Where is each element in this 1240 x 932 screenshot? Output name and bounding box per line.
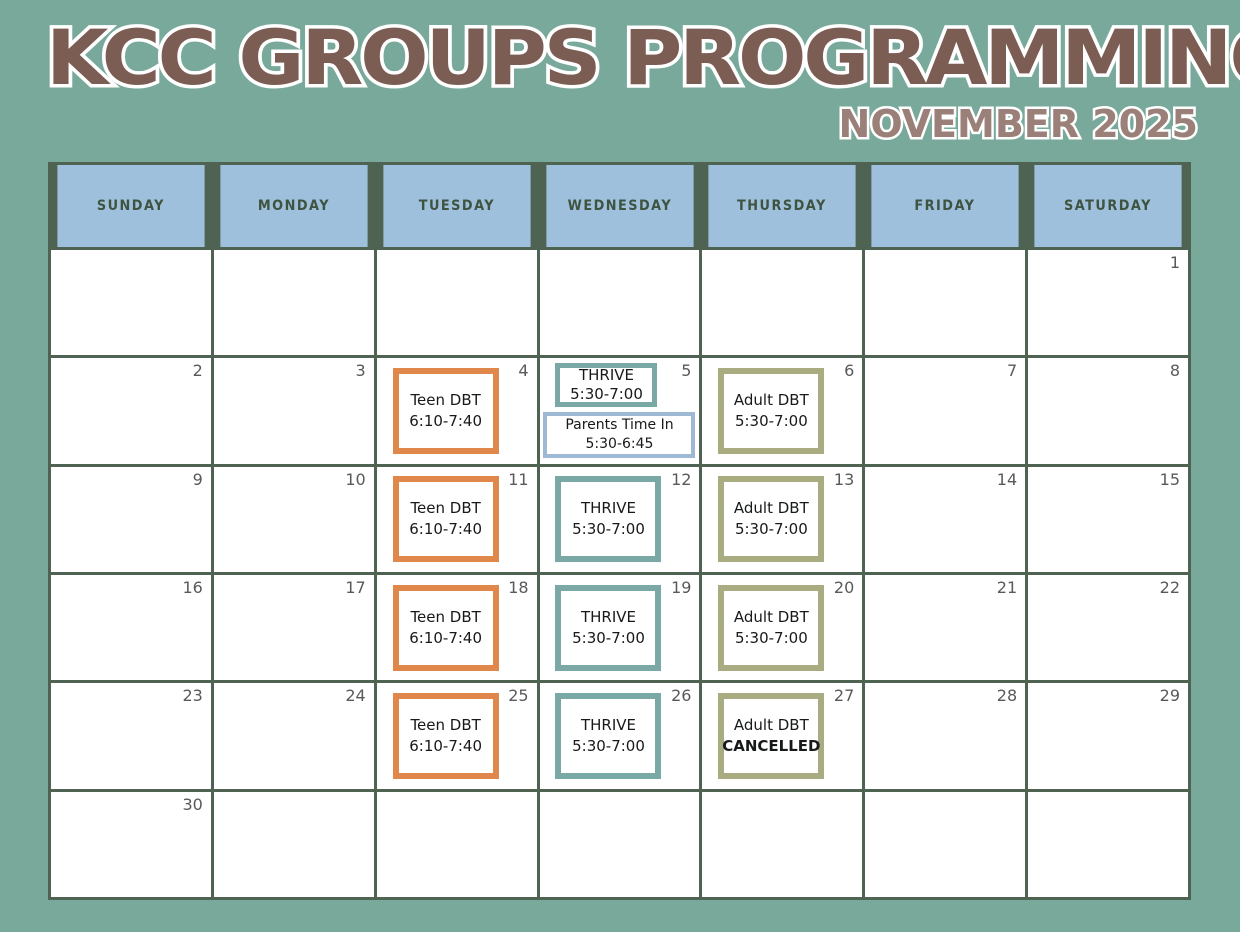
event-title: Adult DBT bbox=[734, 390, 809, 411]
day-cell-empty[interactable] bbox=[865, 250, 1025, 355]
event-title: THRIVE bbox=[579, 366, 634, 385]
events-container: THRIVE5:30-7:00Parents Time In5:30-6:45 bbox=[540, 358, 700, 463]
event-stack: Adult DBT5:30-7:00 bbox=[704, 368, 860, 454]
event-box-adult-dbt[interactable]: Adult DBT5:30-7:00 bbox=[718, 368, 824, 454]
event-time: 5:30-7:00 bbox=[572, 519, 645, 540]
day-cell-empty[interactable] bbox=[214, 792, 374, 897]
event-box-thrive[interactable]: THRIVE5:30-7:00 bbox=[555, 476, 661, 562]
event-box-adult-dbt[interactable]: Adult DBT5:30-7:00 bbox=[718, 476, 824, 562]
day-number: 16 bbox=[182, 579, 202, 597]
day-cell-3[interactable]: 3 bbox=[214, 358, 374, 463]
event-time: 6:10-7:40 bbox=[409, 628, 482, 649]
event-box-teen-dbt[interactable]: Teen DBT6:10-7:40 bbox=[393, 368, 499, 454]
day-cell-12[interactable]: 12THRIVE5:30-7:00 bbox=[540, 467, 700, 572]
day-number: 1 bbox=[1170, 254, 1180, 272]
day-cell-28[interactable]: 28 bbox=[865, 683, 1025, 788]
event-stack: Teen DBT6:10-7:40 bbox=[379, 476, 535, 562]
event-box-thrive[interactable]: THRIVE5:30-7:00 bbox=[555, 693, 661, 779]
event-time: 5:30-7:00 bbox=[572, 736, 645, 757]
event-title: Adult DBT bbox=[734, 498, 809, 519]
day-cell-8[interactable]: 8 bbox=[1028, 358, 1188, 463]
day-cell-20[interactable]: 20Adult DBT5:30-7:00 bbox=[702, 575, 862, 680]
weekday-header-sunday: SUNDAY bbox=[57, 165, 204, 247]
event-stack: Adult DBTCANCELLED bbox=[704, 693, 860, 779]
events-container: Adult DBTCANCELLED bbox=[702, 683, 862, 788]
day-cell-29[interactable]: 29 bbox=[1028, 683, 1188, 788]
day-cell-15[interactable]: 15 bbox=[1028, 467, 1188, 572]
day-cell-empty[interactable] bbox=[377, 250, 537, 355]
day-number: 23 bbox=[182, 687, 202, 705]
calendar-poster: KCC GROUPS PROGRAMMING NOVEMBER 2025 SUN… bbox=[0, 0, 1240, 932]
day-cell-13[interactable]: 13Adult DBT5:30-7:00 bbox=[702, 467, 862, 572]
day-number: 9 bbox=[193, 471, 203, 489]
event-box-teen-dbt[interactable]: Teen DBT6:10-7:40 bbox=[393, 585, 499, 671]
day-cell-11[interactable]: 11Teen DBT6:10-7:40 bbox=[377, 467, 537, 572]
day-cell-empty[interactable] bbox=[702, 250, 862, 355]
weekday-header-saturday: SATURDAY bbox=[1035, 165, 1182, 247]
day-cell-empty[interactable] bbox=[51, 250, 211, 355]
day-cell-empty[interactable] bbox=[214, 250, 374, 355]
day-cell-10[interactable]: 10 bbox=[214, 467, 374, 572]
day-number: 29 bbox=[1160, 687, 1180, 705]
day-cell-17[interactable]: 17 bbox=[214, 575, 374, 680]
event-time: 5:30-7:00 bbox=[572, 628, 645, 649]
day-cell-19[interactable]: 19THRIVE5:30-7:00 bbox=[540, 575, 700, 680]
events-container: Teen DBT6:10-7:40 bbox=[377, 683, 537, 788]
day-number: 10 bbox=[345, 471, 365, 489]
event-box-parents-time-in[interactable]: Parents Time In5:30-6:45 bbox=[543, 412, 695, 458]
day-cell-2[interactable]: 2 bbox=[51, 358, 211, 463]
day-number: 15 bbox=[1160, 471, 1180, 489]
day-cell-22[interactable]: 22 bbox=[1028, 575, 1188, 680]
event-box-thrive[interactable]: THRIVE5:30-7:00 bbox=[555, 363, 657, 407]
events-container: Teen DBT6:10-7:40 bbox=[377, 575, 537, 680]
event-title: Teen DBT bbox=[410, 390, 480, 411]
day-cell-18[interactable]: 18Teen DBT6:10-7:40 bbox=[377, 575, 537, 680]
day-number: 2 bbox=[193, 362, 203, 380]
day-cell-26[interactable]: 26THRIVE5:30-7:00 bbox=[540, 683, 700, 788]
day-cell-7[interactable]: 7 bbox=[865, 358, 1025, 463]
event-stack: Adult DBT5:30-7:00 bbox=[704, 476, 860, 562]
day-number: 22 bbox=[1160, 579, 1180, 597]
day-cell-25[interactable]: 25Teen DBT6:10-7:40 bbox=[377, 683, 537, 788]
day-cell-empty[interactable] bbox=[377, 792, 537, 897]
weekday-header-monday: MONDAY bbox=[220, 165, 367, 247]
day-number: 7 bbox=[1007, 362, 1017, 380]
events-container: THRIVE5:30-7:00 bbox=[540, 467, 700, 572]
event-title: Parents Time In bbox=[565, 416, 673, 435]
event-time: 5:30-6:45 bbox=[586, 435, 654, 454]
event-stack: Adult DBT5:30-7:00 bbox=[704, 585, 860, 671]
event-time: 5:30-7:00 bbox=[570, 385, 643, 404]
day-cell-30[interactable]: 30 bbox=[51, 792, 211, 897]
events-container: Teen DBT6:10-7:40 bbox=[377, 467, 537, 572]
month-year-label: NOVEMBER 2025 bbox=[839, 102, 1198, 146]
event-title: Teen DBT bbox=[410, 715, 480, 736]
event-title: THRIVE bbox=[581, 607, 636, 628]
event-stack: THRIVE5:30-7:00 bbox=[542, 476, 698, 562]
event-stack: Teen DBT6:10-7:40 bbox=[379, 693, 535, 779]
day-cell-9[interactable]: 9 bbox=[51, 467, 211, 572]
event-time: 6:10-7:40 bbox=[409, 411, 482, 432]
event-box-adult-dbt[interactable]: Adult DBTCANCELLED bbox=[718, 693, 824, 779]
event-time: 6:10-7:40 bbox=[409, 519, 482, 540]
day-cell-24[interactable]: 24 bbox=[214, 683, 374, 788]
day-number: 24 bbox=[345, 687, 365, 705]
weekday-header-tuesday: TUESDAY bbox=[383, 165, 530, 247]
event-time: 6:10-7:40 bbox=[409, 736, 482, 757]
day-number: 8 bbox=[1170, 362, 1180, 380]
event-stack: THRIVE5:30-7:00Parents Time In5:30-6:45 bbox=[542, 363, 698, 458]
day-cell-16[interactable]: 16 bbox=[51, 575, 211, 680]
day-cell-23[interactable]: 23 bbox=[51, 683, 211, 788]
events-container: Teen DBT6:10-7:40 bbox=[377, 358, 537, 463]
event-stack: THRIVE5:30-7:00 bbox=[542, 693, 698, 779]
events-container: Adult DBT5:30-7:00 bbox=[702, 467, 862, 572]
day-number: 3 bbox=[356, 362, 366, 380]
event-box-adult-dbt[interactable]: Adult DBT5:30-7:00 bbox=[718, 585, 824, 671]
day-number: 30 bbox=[182, 796, 202, 814]
day-cell-21[interactable]: 21 bbox=[865, 575, 1025, 680]
weekday-header-wednesday: WEDNESDAY bbox=[546, 165, 693, 247]
events-container: Adult DBT5:30-7:00 bbox=[702, 575, 862, 680]
event-stack: THRIVE5:30-7:00 bbox=[542, 585, 698, 671]
event-box-thrive[interactable]: THRIVE5:30-7:00 bbox=[555, 585, 661, 671]
events-container: THRIVE5:30-7:00 bbox=[540, 683, 700, 788]
day-number: 17 bbox=[345, 579, 365, 597]
event-title: Teen DBT bbox=[410, 607, 480, 628]
day-cell-4[interactable]: 4Teen DBT6:10-7:40 bbox=[377, 358, 537, 463]
day-number: 28 bbox=[997, 687, 1017, 705]
header-block: KCC GROUPS PROGRAMMING bbox=[46, 16, 1196, 100]
event-time: 5:30-7:00 bbox=[735, 628, 808, 649]
day-number: 14 bbox=[997, 471, 1017, 489]
day-cell-empty[interactable] bbox=[1028, 792, 1188, 897]
day-cell-empty[interactable] bbox=[540, 792, 700, 897]
event-title: Adult DBT bbox=[734, 715, 809, 736]
calendar-grid: SUNDAYMONDAYTUESDAYWEDNESDAYTHURSDAYFRID… bbox=[48, 162, 1191, 900]
day-cell-6[interactable]: 6Adult DBT5:30-7:00 bbox=[702, 358, 862, 463]
day-cell-27[interactable]: 27Adult DBTCANCELLED bbox=[702, 683, 862, 788]
day-cell-empty[interactable] bbox=[540, 250, 700, 355]
day-cell-empty[interactable] bbox=[865, 792, 1025, 897]
event-stack: Teen DBT6:10-7:40 bbox=[379, 368, 535, 454]
day-cell-1[interactable]: 1 bbox=[1028, 250, 1188, 355]
events-container: Adult DBT5:30-7:00 bbox=[702, 358, 862, 463]
event-time: 5:30-7:00 bbox=[735, 411, 808, 432]
event-title: Teen DBT bbox=[410, 498, 480, 519]
event-status: CANCELLED bbox=[722, 736, 820, 757]
event-title: THRIVE bbox=[581, 498, 636, 519]
day-cell-5[interactable]: 5THRIVE5:30-7:00Parents Time In5:30-6:45 bbox=[540, 358, 700, 463]
day-cell-14[interactable]: 14 bbox=[865, 467, 1025, 572]
event-box-teen-dbt[interactable]: Teen DBT6:10-7:40 bbox=[393, 476, 499, 562]
day-number: 21 bbox=[997, 579, 1017, 597]
weekday-header-thursday: THURSDAY bbox=[709, 165, 856, 247]
day-cell-empty[interactable] bbox=[702, 792, 862, 897]
events-container: THRIVE5:30-7:00 bbox=[540, 575, 700, 680]
event-title: Adult DBT bbox=[734, 607, 809, 628]
weekday-header-friday: FRIDAY bbox=[872, 165, 1019, 247]
event-time: 5:30-7:00 bbox=[735, 519, 808, 540]
page-title: KCC GROUPS PROGRAMMING bbox=[46, 16, 1240, 100]
event-stack: Teen DBT6:10-7:40 bbox=[379, 585, 535, 671]
event-box-teen-dbt[interactable]: Teen DBT6:10-7:40 bbox=[393, 693, 499, 779]
event-title: THRIVE bbox=[581, 715, 636, 736]
